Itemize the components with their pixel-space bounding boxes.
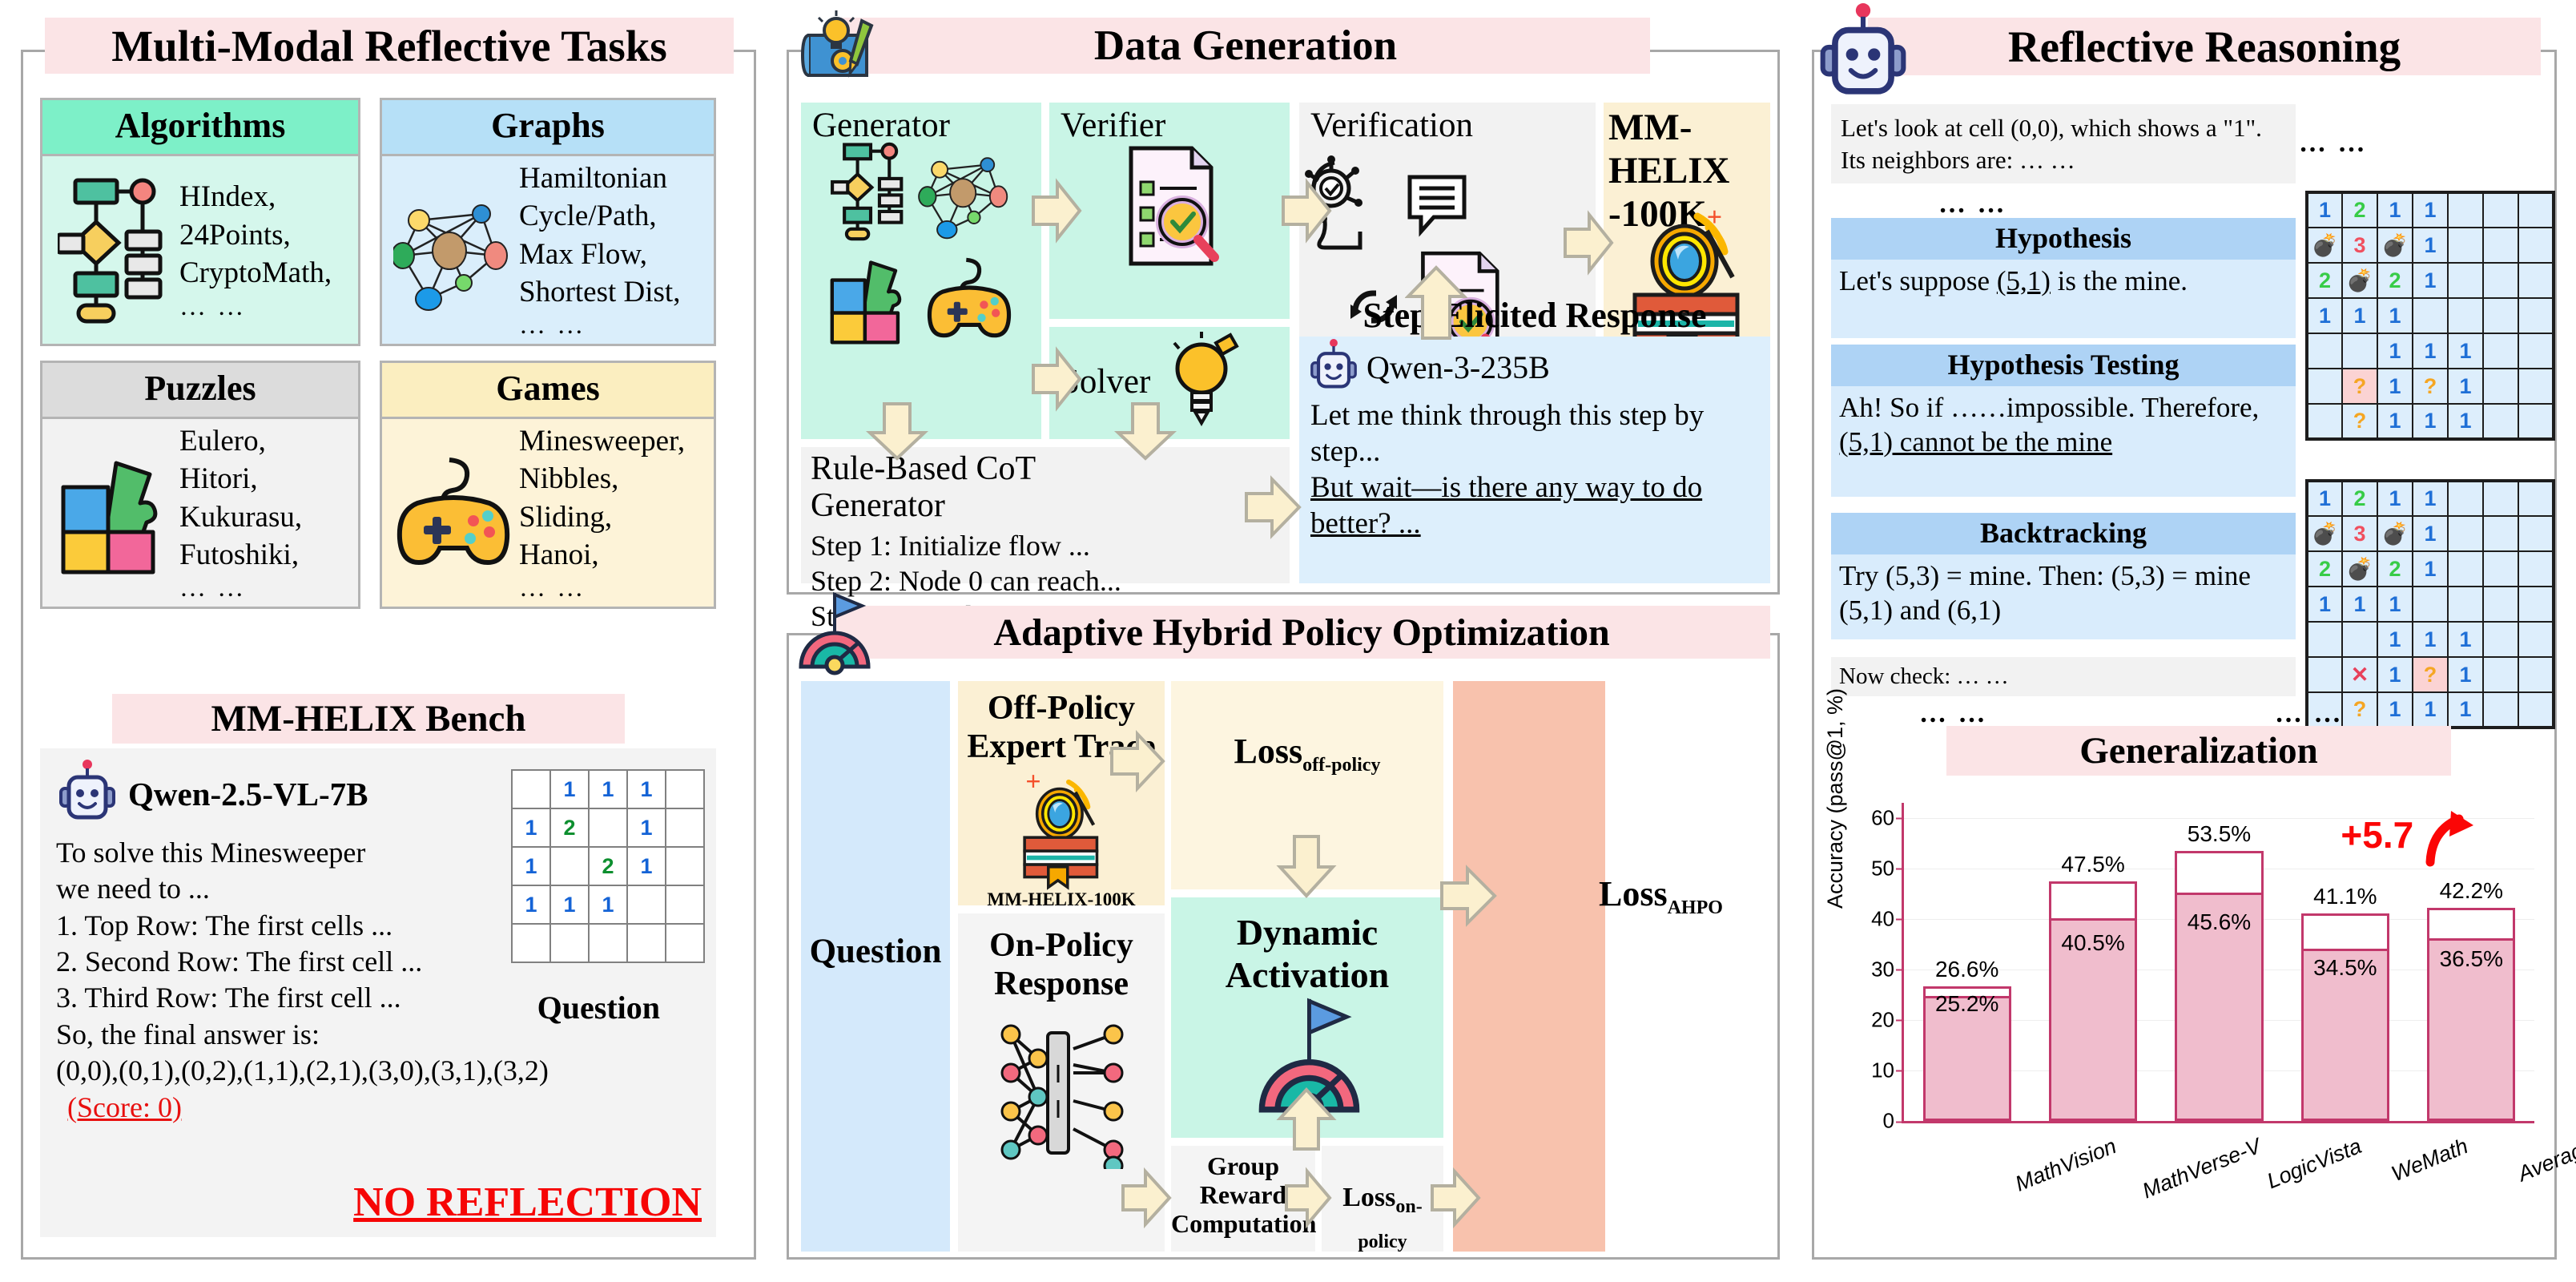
hypothesis-cell-ref: (5,1) <box>1997 265 2051 296</box>
category-title-games: Games <box>382 363 714 419</box>
minesweeper-table-bottom: 1211 💣3💣1 2💣21 111 111 ✕1?1 ?111 <box>2305 479 2555 729</box>
arrow-verification-to-dataset <box>1562 208 1615 277</box>
minesweeper-table-top: 1211 💣3💣1 2💣21 111 111 ?1?1 ?111 <box>2305 191 2555 441</box>
up-arrow-icon <box>2424 809 2477 867</box>
reflective-intro-text: Let's look at cell (0,0), which shows a … <box>1831 104 2296 183</box>
arrow-offpolicy-to-loss <box>1109 729 1166 793</box>
chart-x-tick: MathVision <box>2012 1134 2120 1197</box>
graph-network-icon-small <box>918 140 1014 248</box>
category-items-graphs: HamiltonianCycle/Path,Max Flow,Shortest … <box>519 159 709 311</box>
bomb-cell: 💣 <box>2377 516 2413 551</box>
table-row: 111 <box>2307 622 2554 657</box>
verifier-cell: Verifier <box>1049 103 1290 319</box>
table-row: 2💣21 <box>2307 263 2554 298</box>
loss-ahpo-label: LossAHPO <box>1599 874 1723 913</box>
no-reflection-verdict: NO REFLECTION <box>353 1179 702 1226</box>
section-header-backtracking: Backtracking <box>1831 513 2296 556</box>
category-title-graphs: Graphs <box>382 100 714 156</box>
chart-y-tick: 20 <box>1871 1007 1894 1032</box>
on-policy-label: On-PolicyResponse <box>958 913 1165 1004</box>
bench-model-row: Qwen-2.5-VL-7B <box>59 760 368 828</box>
bench-line-0: To solve this Minesweeper <box>56 835 569 871</box>
question-cell-highlight: ? <box>2342 369 2377 404</box>
section-header-hypothesis: Hypothesis <box>1831 218 2296 261</box>
chart-x-tick: Average <box>2514 1134 2576 1187</box>
bench-line-6: (0,0),(0,1),(0,2),(1,1),(2,1),(3,0),(3,1… <box>56 1053 569 1089</box>
chart-bar: 41.1%34.5% <box>2301 913 2389 1121</box>
chart-y-axis-label: Accuracy (pass@1, %) <box>1823 668 1848 909</box>
bench-line-2: 1. Top Row: The first cells ... <box>56 908 569 944</box>
chart-bar: 26.6%25.2% <box>1923 986 2011 1121</box>
off-policy-dataset-caption: MM-HELIX-100K <box>958 889 1165 910</box>
arrow-losson-to-output <box>1429 1167 1482 1229</box>
table-row <box>512 924 704 962</box>
ahpo-question-label: Question <box>801 932 950 971</box>
chart-bar-top-label: 47.5% <box>2061 852 2124 877</box>
minesweeper-question-table: 111 121 121 111 <box>511 769 705 963</box>
bench-reasoning-text: To solve this Minesweeper we need to ...… <box>56 835 569 1126</box>
loss-ahpo-sub: AHPO <box>1668 897 1723 918</box>
loss-on-policy-label: Losson-policy <box>1342 1183 1422 1248</box>
arrow-generator-to-verifier <box>1030 176 1083 245</box>
chart-y-tick: 0 <box>1883 1109 1894 1134</box>
jigsaw-icon <box>47 449 179 577</box>
neural-network-icon <box>958 1017 1165 1173</box>
arrow-verifier-to-verification <box>1280 176 1333 245</box>
delta-value: +5.7 <box>2341 814 2413 856</box>
arrow-up-step-to-verification <box>1405 264 1467 341</box>
minesweeper-grid-hypothesis: 1211 💣3💣1 2💣21 111 111 ?1?1 ?111 <box>2305 191 2555 441</box>
section-body-hypothesis-testing: Ah! So if ……impossible. Therefore, (5,1)… <box>1831 386 2296 497</box>
verifier-label: Verifier <box>1049 103 1290 145</box>
table-row: 111 <box>2307 298 2554 333</box>
chart-y-tick: 60 <box>1871 805 1894 830</box>
question-cell-highlight-2: ? <box>2413 657 2448 692</box>
category-dots-games: … … <box>519 574 709 603</box>
chart-x-tick: WeMath <box>2388 1134 2471 1187</box>
arrow-down-solver <box>1113 401 1177 463</box>
chart-bar-inner-label: 25.2% <box>1935 991 1998 1017</box>
step-text-plain: Let me think through this step by step..… <box>1310 397 1759 470</box>
chart-bar: 53.5%45.6% <box>2175 851 2263 1121</box>
table-row: 111 <box>512 770 704 808</box>
page-title-ahpo: Adaptive Hybrid Policy Optimization <box>833 606 1770 659</box>
now-check-text: Now check: … … <box>1831 657 2296 696</box>
testing-conclusion: (5,1) cannot be the mine <box>1839 426 2112 458</box>
table-row: ?111 <box>2307 692 2554 728</box>
category-card-graphs: Graphs <box>380 98 716 346</box>
rule-step-1: Step 2: Node 0 can reach... <box>811 564 1290 599</box>
arrow-group-to-losson <box>1283 1167 1333 1229</box>
bench-line-4: 3. Third Row: The first cell ... <box>56 980 569 1016</box>
loss-off-policy-sub: off-policy <box>1302 755 1380 776</box>
table-row: 121 <box>512 847 704 885</box>
category-dots-graphs: … … <box>519 311 709 341</box>
table-row: ?1?1 <box>2307 369 2554 404</box>
arrow-loss-to-dynamic <box>1275 833 1338 899</box>
dataset-name: MM-HELIX <box>1604 103 1770 192</box>
loss-on-policy-cell: Losson-policy <box>1322 1146 1443 1252</box>
category-title-puzzles: Puzzles <box>42 363 358 419</box>
chart-y-tick: 30 <box>1871 957 1894 982</box>
chart-bar-top-label: 53.5% <box>2188 821 2251 847</box>
section-body-hypothesis: Let's suppose (5,1) is the mine. <box>1831 260 2296 338</box>
chart-x-tick: MathVerse-V <box>2139 1134 2265 1203</box>
arrow-group-to-dynamic <box>1275 1086 1338 1152</box>
speech-bubble-icon <box>1405 172 1469 245</box>
question-cell: Question <box>801 681 950 1252</box>
generator-cell: Generator <box>801 103 1041 439</box>
generalization-title: Generalization <box>1946 726 2451 776</box>
category-dots-algorithms: … … <box>179 292 353 322</box>
chart-bar: 47.5%40.5% <box>2049 881 2137 1121</box>
generalization-dots-left: … … <box>1919 699 1988 729</box>
cross-cell: ✕ <box>2342 657 2377 692</box>
category-card-games: Games Minesweeper,Nibbles,Sliding,Hanoi,… <box>380 361 716 609</box>
table-row: ?111 <box>2307 404 2554 439</box>
bench-title: MM-HELIX Bench <box>112 694 625 744</box>
bench-score: (Score: 0) <box>67 1091 182 1123</box>
section-header-hypothesis-testing: Hypothesis Testing <box>1831 345 2296 388</box>
category-items-puzzles: Eulero,Hitori,Kukurasu,Futoshiki, <box>179 422 353 574</box>
step-text-reflection: But wait—is there any way to do better? … <box>1310 470 1759 542</box>
arrow-down-generator <box>865 401 929 463</box>
chart-bar-inner-label: 34.5% <box>2313 955 2377 981</box>
generator-label: Generator <box>801 103 1041 145</box>
page-title-data-generation: Data Generation <box>841 18 1650 74</box>
hypothesis-pre: Let's suppose <box>1839 265 1997 296</box>
jigsaw-icon-small <box>825 252 913 350</box>
reflective-dots-mid: … … <box>1938 189 2007 220</box>
table-row: 1211 <box>2307 481 2554 516</box>
robot-icon-badge <box>1818 3 1908 105</box>
chart-x-tick: LogicVista <box>2264 1134 2365 1194</box>
generalization-chart: Accuracy (pass@1, %) 010203040506026.6%2… <box>1825 788 2547 1252</box>
bomb-cell: 💣 <box>2342 263 2377 298</box>
bench-line-1: we need to ... <box>56 871 569 907</box>
category-items-algorithms: HIndex,24Points,CryptoMath, <box>179 178 353 292</box>
reflective-dots-right: … … <box>2299 128 2368 159</box>
category-title-algorithms: Algorithms <box>42 100 358 156</box>
category-dots-puzzles: … … <box>179 574 353 603</box>
rule-based-cot-cell: Rule-Based CoTGenerator Step 1: Initiali… <box>801 447 1290 583</box>
category-items-games: Minesweeper,Nibbles,Sliding,Hanoi, <box>519 422 709 574</box>
chart-bar-top-label: 42.2% <box>2440 878 2503 904</box>
testing-pre: Ah! So if ……impossible. Therefore, <box>1839 392 2259 423</box>
chart-y-tick: 40 <box>1871 906 1894 931</box>
step-elicited-response-cell: Step-Elicited Response Qwen-3-235B Let m… <box>1299 337 1770 583</box>
step-elicited-title: Step-Elicited Response <box>1299 295 1770 336</box>
bomb-cell: 💣 <box>2342 551 2377 587</box>
flowchart-icon-small <box>828 140 913 248</box>
page-title-left: Multi-Modal Reflective Tasks <box>45 18 734 74</box>
bench-line-3: 2. Second Row: The first cell ... <box>56 944 569 980</box>
arrow-rule-to-step <box>1243 474 1302 540</box>
robot-icon-small <box>1310 339 1357 396</box>
robot-icon <box>59 760 115 828</box>
bomb-cell: 💣 <box>2307 228 2342 263</box>
table-row: 111 <box>512 885 704 924</box>
off-policy-expert-trace-cell: Off-PolicyExpert Trace + MM-HELIX-100K <box>958 681 1165 905</box>
chart-y-tick: 10 <box>1871 1058 1894 1082</box>
table-row: 1211 <box>2307 192 2554 228</box>
table-row: ✕1?1 <box>2307 657 2554 692</box>
graph-network-icon <box>387 182 519 318</box>
document-check-icon <box>1049 142 1290 274</box>
page-title-reflective: Reflective Reasoning <box>1868 18 2541 75</box>
chart-bar-inner-label: 40.5% <box>2061 930 2124 956</box>
chart-bar-inner-label: 45.6% <box>2188 909 2251 935</box>
arrow-dynamic-to-lossahpo <box>1439 864 1498 928</box>
bench-model-name: Qwen-2.5-VL-7B <box>128 775 368 813</box>
arrow-generator-to-solver <box>1030 345 1083 413</box>
table-row: 💣3💣1 <box>2307 516 2554 551</box>
bench-line-5: So, the final answer is: <box>56 1017 569 1053</box>
bench-minesweeper-grid: 111 121 121 111 <box>511 769 705 963</box>
blueprint-idea-icon <box>795 6 881 97</box>
table-row: 111 <box>2307 587 2554 622</box>
rule-step-0: Step 1: Initialize flow ... <box>811 529 1290 564</box>
gamepad-icon-small <box>921 252 1017 350</box>
chart-bar-top-label: 26.6% <box>1935 957 1998 982</box>
category-card-puzzles: Puzzles Eulero,Hitori,Kukurasu,Futoshiki… <box>40 361 360 609</box>
question-label: Question <box>537 989 660 1026</box>
dynamic-activation-label: DynamicActivation <box>1171 897 1443 997</box>
arrow-onpolicy-to-group <box>1120 1167 1173 1229</box>
loss-on-policy-sub: on-policy <box>1358 1196 1422 1252</box>
flowchart-icon <box>47 174 179 326</box>
hypothesis-post: is the mine. <box>2051 265 2188 296</box>
table-row: 2💣21 <box>2307 551 2554 587</box>
chart-bar: 42.2%36.5% <box>2427 908 2515 1121</box>
section-body-backtracking: Try (5,3) = mine. Then: (5,3) = mine (5,… <box>1831 554 2296 639</box>
chart-y-tick: 50 <box>1871 856 1894 881</box>
chart-annotation-delta: +5.7 <box>2341 809 2477 867</box>
chart-bar-top-label: 41.1% <box>2313 884 2377 909</box>
poster-root: Multi-Modal Reflective Tasks Algorithms <box>0 0 2576 1282</box>
bench-example-box: Qwen-2.5-VL-7B To solve this Minesweeper… <box>40 748 716 1237</box>
generalization-dots-right: … … <box>2275 699 2344 729</box>
gamepad-icon <box>387 449 519 577</box>
minesweeper-grid-backtracking: 1211 💣3💣1 2💣21 111 111 ✕1?1 ?111 <box>2305 479 2555 729</box>
svg-text:+: + <box>1026 770 1041 796</box>
chart-bar-inner-label: 36.5% <box>2440 946 2503 972</box>
gauge-flag-icon <box>795 590 875 682</box>
table-row: 121 <box>512 808 704 847</box>
bomb-cell: 💣 <box>2307 516 2342 551</box>
step-model-name: Qwen-3-235B <box>1366 349 1550 386</box>
loss-off-policy-label: Lossoff-policy <box>1234 732 1381 771</box>
category-card-algorithms: Algorithms <box>40 98 360 346</box>
bomb-cell: 💣 <box>2377 228 2413 263</box>
table-row: 💣3💣1 <box>2307 228 2554 263</box>
table-row: 111 <box>2307 333 2554 369</box>
